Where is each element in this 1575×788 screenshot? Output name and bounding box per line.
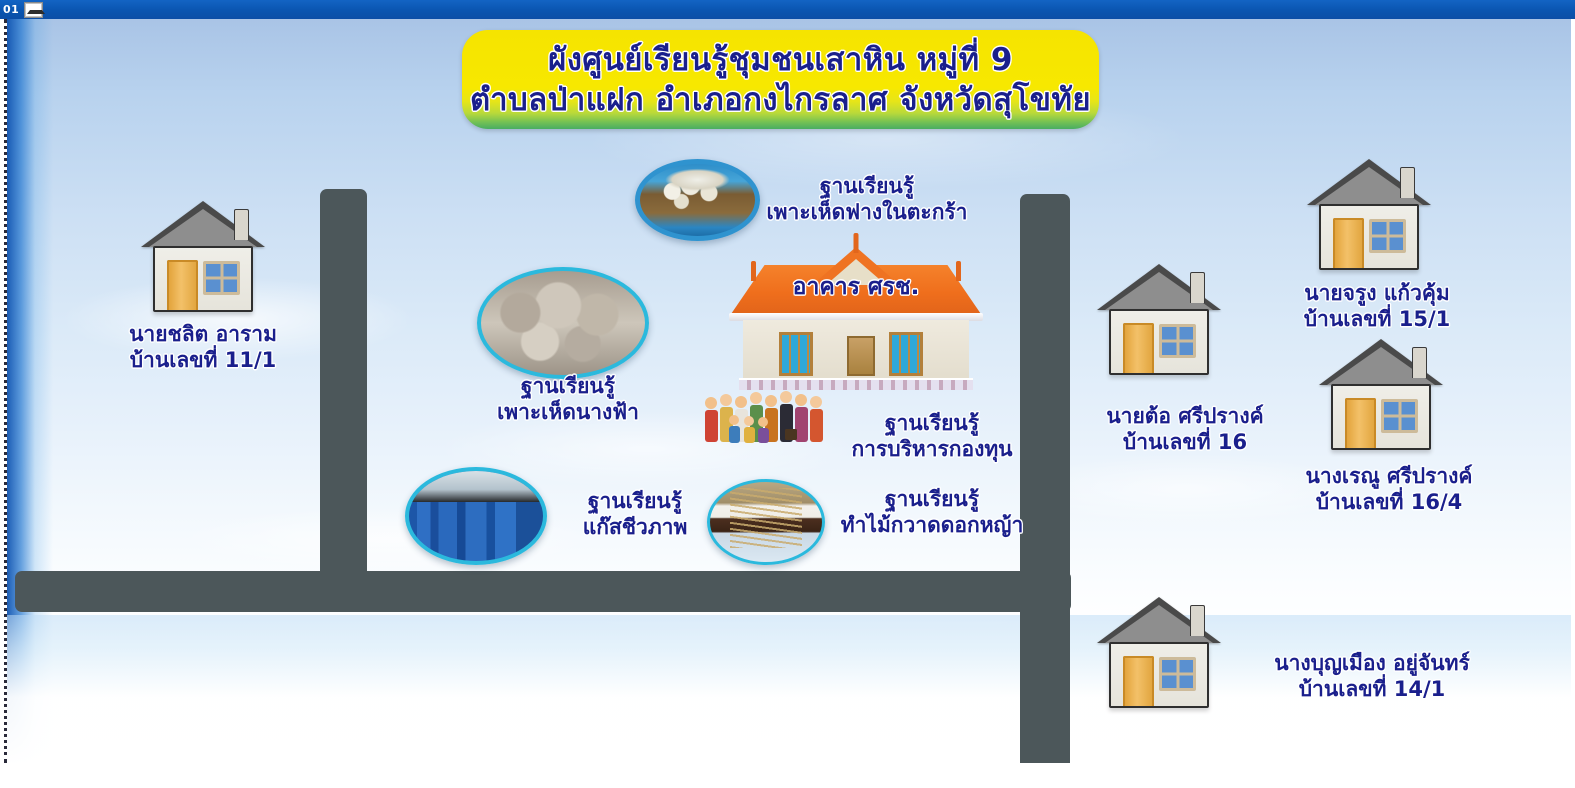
road-main-horizontal: [15, 571, 1071, 612]
community-crowd-illustration: [701, 387, 837, 453]
window-titlebar: 01: [0, 0, 1575, 19]
house-owner-name: นายจรูง แก้วคุ้ม: [1235, 281, 1519, 307]
house-icon-tor: [1097, 264, 1221, 374]
learning-base-title: ฐานเรียนรู้: [747, 174, 987, 200]
road-right-vertical: [1020, 194, 1070, 763]
building-label: อาคาร ศรช.: [729, 269, 983, 305]
house-door: [1123, 656, 1154, 706]
house-window: [1369, 219, 1406, 253]
window-title: 01: [0, 0, 19, 19]
house-label-charoong: นายจรูง แก้วคุ้ม บ้านเลขที่ 15/1: [1235, 281, 1519, 332]
house-label-boonmuang: นางบุญเมือง อยู่จันทร์ บ้านเลขที่ 14/1: [1207, 651, 1537, 702]
learning-base-subject: เพาะเห็ดนางฟ้า: [453, 400, 683, 426]
image-viewer-window: 01 ผังศูนย์เรียนรู้ชุมชนเสาหิน หมู่ที่ 9…: [0, 0, 1575, 788]
house-icon-boonmuang: [1097, 597, 1221, 707]
learning-base-title: ฐานเรียนรู้: [827, 411, 1037, 437]
house-door: [1333, 218, 1364, 268]
house-door: [1345, 398, 1376, 448]
house-label-chalit: นายชลิต อาราม บ้านเลขที่ 11/1: [93, 322, 313, 373]
house-label-tor: นายต้อ ศรีปรางค์ บ้านเลขที่ 16: [1065, 404, 1305, 455]
learning-base-label-broom: ฐานเรียนรู้ ทำไม้กวาดดอกหญ้า: [822, 487, 1042, 538]
house-window: [1381, 399, 1418, 433]
house-owner-name: นายชลิต อาราม: [93, 322, 313, 348]
house-body: [1331, 384, 1431, 450]
house-chimney: [1412, 347, 1427, 378]
house-body: [153, 246, 253, 312]
house-chimney: [1190, 272, 1205, 303]
building-door: [847, 336, 875, 376]
oyster-mushroom-photo: [477, 267, 649, 379]
house-window: [203, 261, 240, 295]
image-icon: [24, 2, 43, 18]
learning-base-subject: ทำไม้กวาดดอกหญ้า: [822, 513, 1042, 539]
house-chimney: [1190, 605, 1205, 636]
house-chimney: [234, 209, 249, 240]
house-owner-name: นางบุญเมือง อยู่จันทร์: [1207, 651, 1537, 677]
poster-title-banner: ผังศูนย์เรียนรู้ชุมชนเสาหิน หมู่ที่ 9 ตำ…: [462, 30, 1099, 129]
house-owner-name: นายต้อ ศรีปรางค์: [1065, 404, 1305, 430]
learning-base-label-biogas: ฐานเรียนรู้ แก๊สชีวภาพ: [545, 489, 725, 540]
learning-base-label-fund-management: ฐานเรียนรู้ การบริหารกองทุน: [827, 411, 1037, 462]
house-body: [1109, 642, 1209, 708]
poster-background: ผังศูนย์เรียนรู้ชุมชนเสาหิน หมู่ที่ 9 ตำ…: [7, 19, 1571, 763]
poster-title-line-1: ผังศูนย์เรียนรู้ชุมชนเสาหิน หมู่ที่ 9: [548, 40, 1013, 80]
straw-mushroom-basket-photo: [635, 159, 760, 241]
learning-base-subject: แก๊สชีวภาพ: [545, 515, 725, 541]
learning-base-title: ฐานเรียนรู้: [453, 374, 683, 400]
building-window: [889, 332, 923, 376]
house-owner-name: นางเรณู ศรีปรางค์: [1245, 464, 1533, 490]
road-left-vertical: [320, 189, 367, 589]
house-address: บ้านเลขที่ 14/1: [1207, 677, 1537, 703]
building-wall: [743, 320, 969, 380]
house-label-renu: นางเรณู ศรีปรางค์ บ้านเลขที่ 16/4: [1245, 464, 1533, 515]
image-canvas[interactable]: ผังศูนย์เรียนรู้ชุมชนเสาหิน หมู่ที่ 9 ตำ…: [4, 19, 1571, 763]
house-body: [1109, 309, 1209, 375]
house-chimney: [1400, 167, 1415, 198]
learning-base-label-oyster-mushroom: ฐานเรียนรู้ เพาะเห็ดนางฟ้า: [453, 374, 683, 425]
learning-base-title: ฐานเรียนรู้: [545, 489, 725, 515]
house-window: [1159, 657, 1196, 691]
building-finial: [854, 233, 859, 253]
learning-base-subject: การบริหารกองทุน: [827, 437, 1037, 463]
learning-base-title: ฐานเรียนรู้: [822, 487, 1042, 513]
building-window: [779, 332, 813, 376]
house-address: บ้านเลขที่ 11/1: [93, 348, 313, 374]
poster-title-line-2: ตำบลป่าแฝก อำเภอกงไกรลาศ จังหวัดสุโขทัย: [470, 80, 1091, 120]
house-door: [1123, 323, 1154, 373]
building-base: [739, 378, 973, 390]
house-icon-renu: [1319, 339, 1443, 449]
house-door: [167, 260, 198, 310]
house-address: บ้านเลขที่ 16/4: [1245, 490, 1533, 516]
biogas-tanks-photo: [405, 467, 547, 565]
house-icon-chalit: [141, 201, 265, 311]
learning-base-subject: เพาะเห็ดฟางในตะกร้า: [747, 200, 987, 226]
house-body: [1319, 204, 1419, 270]
house-icon-charoong: [1307, 159, 1431, 269]
house-address: บ้านเลขที่ 15/1: [1235, 307, 1519, 333]
house-window: [1159, 324, 1196, 358]
learning-base-label-straw-mushroom: ฐานเรียนรู้ เพาะเห็ดฟางในตะกร้า: [747, 174, 987, 225]
house-address: บ้านเลขที่ 16: [1065, 430, 1305, 456]
community-learning-center-building: อาคาร ศรช.: [729, 247, 983, 392]
